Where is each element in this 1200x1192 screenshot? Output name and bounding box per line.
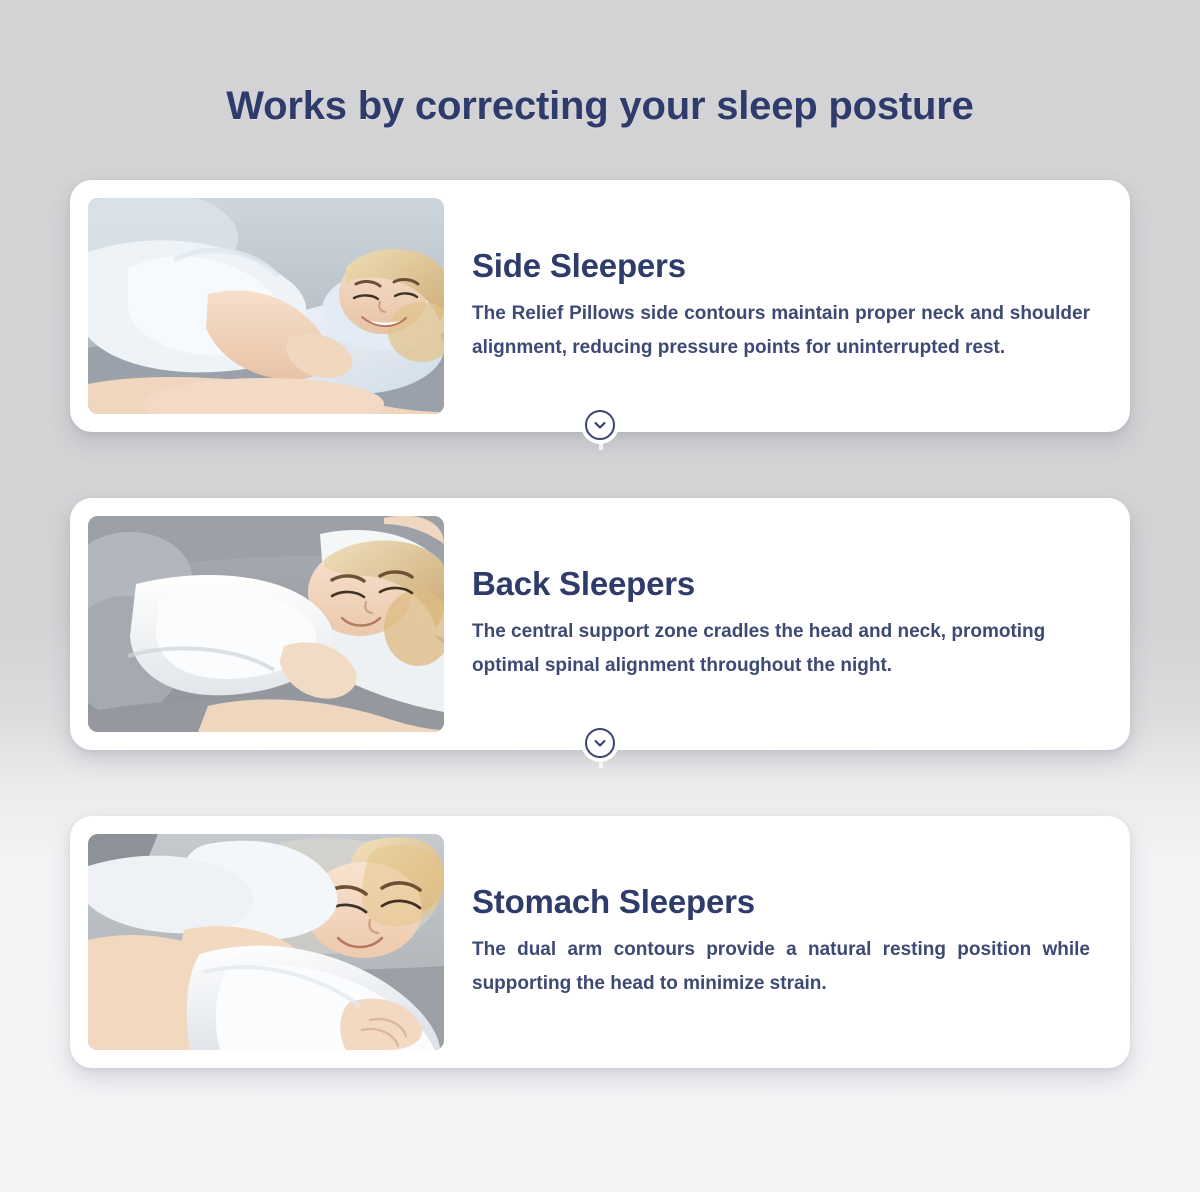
card-description-stomach-sleepers: The dual arm contours provide a natural … xyxy=(472,933,1090,1001)
connector-chevron-2[interactable] xyxy=(585,728,615,758)
card-back-sleepers[interactable]: Back Sleepers The central support zone c… xyxy=(70,498,1130,750)
card-stomach-sleepers[interactable]: Stomach Sleepers The dual arm contours p… xyxy=(70,816,1130,1068)
card-title-side-sleepers: Side Sleepers xyxy=(472,247,1090,285)
card-description-back-sleepers: The central support zone cradles the hea… xyxy=(472,615,1090,683)
card-title-back-sleepers: Back Sleepers xyxy=(472,565,1090,603)
card-image-back-sleepers xyxy=(88,516,444,732)
card-side-sleepers[interactable]: Side Sleepers The Relief Pillows side co… xyxy=(70,180,1130,432)
page-title: Works by correcting your sleep posture xyxy=(0,0,1200,130)
connector-chevron-1[interactable] xyxy=(585,410,615,440)
sleep-posture-card-list: Side Sleepers The Relief Pillows side co… xyxy=(70,130,1130,1068)
chevron-down-icon xyxy=(592,417,608,433)
card-body-stomach-sleepers: Stomach Sleepers The dual arm contours p… xyxy=(444,883,1112,1001)
card-body-back-sleepers: Back Sleepers The central support zone c… xyxy=(444,565,1112,683)
card-description-side-sleepers: The Relief Pillows side contours maintai… xyxy=(472,297,1090,365)
card-image-side-sleepers xyxy=(88,198,444,414)
chevron-down-icon xyxy=(592,735,608,751)
card-title-stomach-sleepers: Stomach Sleepers xyxy=(472,883,1090,921)
card-image-stomach-sleepers xyxy=(88,834,444,1050)
card-body-side-sleepers: Side Sleepers The Relief Pillows side co… xyxy=(444,247,1112,365)
